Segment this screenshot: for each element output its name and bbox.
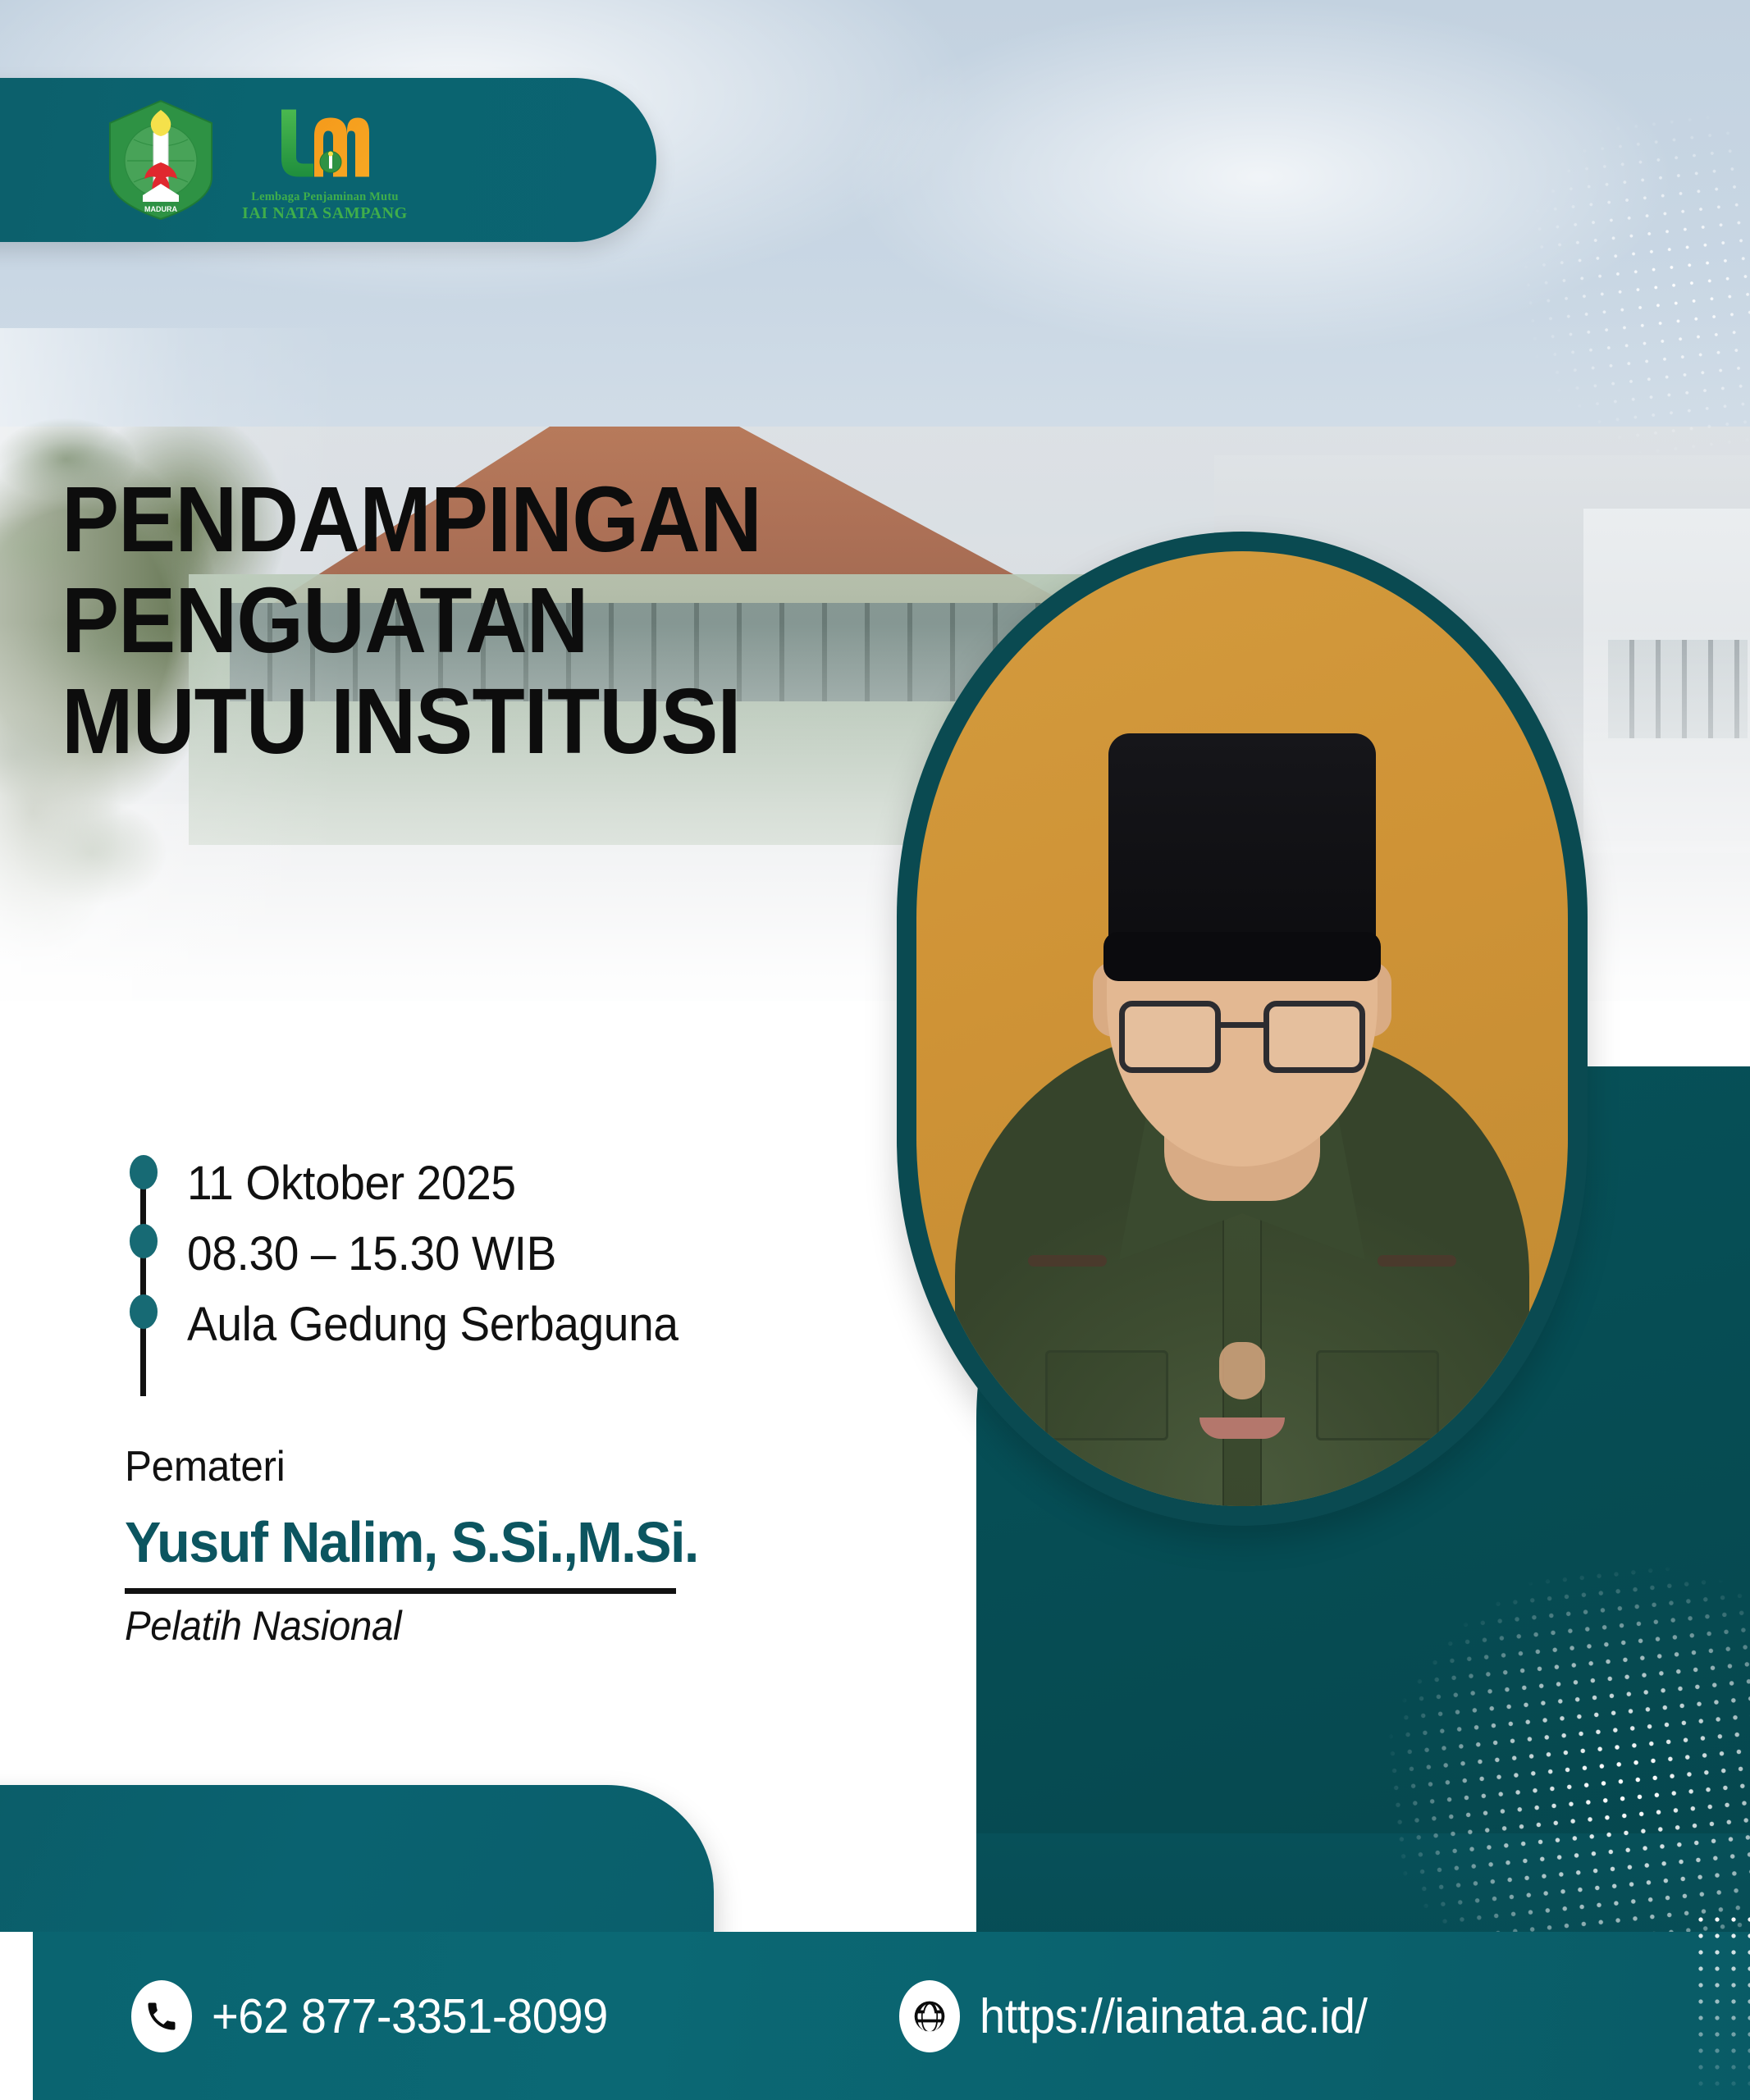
portrait-lens-right (1263, 1001, 1365, 1073)
portrait-brow-left (1378, 1255, 1456, 1267)
portrait-songkok-cap (1108, 733, 1376, 971)
portrait-nose (1219, 1342, 1265, 1399)
shield-bottom-text: MADURA (144, 205, 177, 213)
lpm-line2: IAI NATA SAMPANG (242, 204, 408, 223)
header-logo-bar: MADURA Lembaga Penjaminan Mutu (0, 78, 656, 242)
detail-time: 08.30 – 15.30 WIB (187, 1219, 679, 1290)
timeline-dot-date (130, 1155, 158, 1189)
phone-number: +62 877-3351-8099 (212, 1988, 608, 2044)
title-line-3: MUTU INSTITUSI (62, 671, 916, 772)
portrait-pocket-left (1045, 1350, 1168, 1440)
speaker-divider (125, 1588, 676, 1594)
portrait-glasses (1119, 1001, 1365, 1076)
portrait-glasses-bridge (1221, 1022, 1263, 1028)
lpm-logo-block: Lembaga Penjaminan Mutu IAI NATA SAMPANG (242, 97, 408, 223)
portrait-pocket-right (1316, 1350, 1439, 1440)
footer-left-margin (0, 1932, 33, 2100)
lpm-line1: Lembaga Penjaminan Mutu (251, 191, 398, 204)
speaker-portrait-frame (897, 532, 1588, 1526)
speaker-label: Pemateri (125, 1442, 826, 1491)
footer-edge-dots (1693, 1911, 1750, 2100)
title-line-2: PENGUATAN (62, 570, 916, 671)
institute-shield-logo: MADURA (103, 98, 219, 221)
speaker-name: Yusuf Nalim, S.Si.,M.Si. (125, 1509, 826, 1575)
contact-website[interactable]: https://iainata.ac.id/ (899, 1980, 1387, 2052)
timeline-line (140, 1166, 146, 1396)
detail-date: 11 Oktober 2025 (187, 1148, 679, 1219)
timeline-dot-time (130, 1224, 158, 1258)
halftone-dots-top-right (1391, 87, 1750, 520)
speaker-portrait-photo (916, 551, 1568, 1506)
detail-venue: Aula Gedung Serbaguna (187, 1290, 679, 1360)
portrait-mouth (1199, 1417, 1285, 1439)
timeline-dot-venue (130, 1294, 158, 1329)
lpm-logo-mark (272, 97, 378, 191)
contact-footer-bar: +62 877-3351-8099 https://iainata.ac.id/ (33, 1932, 1750, 2100)
speaker-block: Pemateri Yusuf Nalim, S.Si.,M.Si. Pelati… (125, 1442, 863, 1650)
portrait-lens-left (1119, 1001, 1221, 1073)
phone-icon (131, 1980, 192, 2052)
website-url: https://iainata.ac.id/ (980, 1988, 1367, 2044)
speaker-role: Pelatih Nasional (125, 1602, 826, 1650)
globe-icon (899, 1980, 960, 2052)
event-details: 11 Oktober 2025 08.30 – 15.30 WIB Aula G… (123, 1148, 704, 1359)
title-line-1: PENDAMPINGAN (62, 469, 916, 570)
poster-canvas: MADURA Lembaga Penjaminan Mutu (0, 0, 1750, 2100)
poster-title: PENDAMPINGAN PENGUATAN MUTU INSTITUSI (62, 469, 916, 772)
contact-phone[interactable]: +62 877-3351-8099 (131, 1980, 628, 2052)
portrait-brow-right (1028, 1255, 1107, 1267)
